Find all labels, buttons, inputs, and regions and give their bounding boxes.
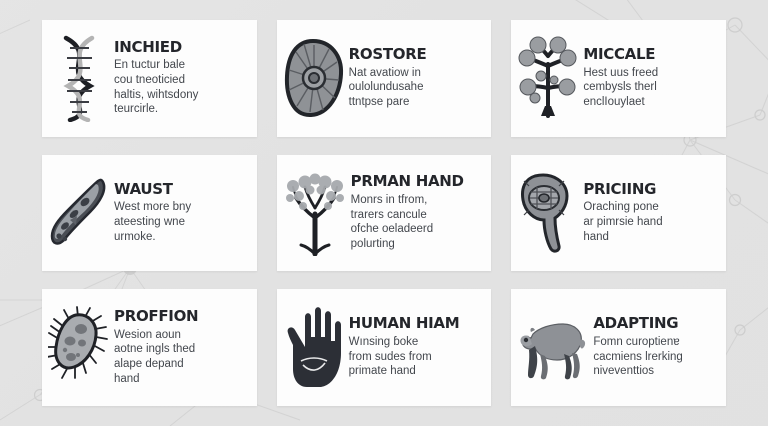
trilobite-fossil-icon (517, 167, 579, 259)
fossil-bone-icon (48, 167, 110, 259)
card-text: PROFFION Wesion aoun aotne ingls thed al… (110, 309, 249, 387)
card-waust[interactable]: WAUST West more bny ateesting wne urmoke… (42, 155, 257, 272)
card-text: HUMAN HIAM Wınsing ɓoke from sudes from … (345, 316, 484, 379)
human-hand-icon (283, 302, 345, 394)
card-title: PRMAN HAND (351, 174, 484, 190)
card-text: WAUST West more bny ateesting wne urmoke… (110, 182, 249, 245)
card-body: Oraching pone ar pimrsie hand hand (583, 200, 718, 244)
card-title: PRICIING (583, 182, 718, 198)
card-adapting[interactable]: ADAPTING Fomn curoptienɐ cacmiens lrerki… (511, 289, 726, 406)
card-prman-hand[interactable]: PRMAN HAND Monrs in tfrom, trarers cancu… (277, 155, 492, 272)
card-inchied[interactable]: INCHIED En tuctur bale cou tneoticied ha… (42, 20, 257, 137)
card-title: WAUST (114, 182, 249, 198)
card-body: Wınsing ɓoke from sudes from primate han… (349, 335, 484, 379)
card-body: En tuctur bale cou tneoticied haltis, wi… (114, 58, 249, 117)
card-text: MICCALE Hest uus freed cembysls therl en… (579, 47, 718, 110)
bacteria-cell-icon (48, 302, 110, 394)
card-body: Wesion aoun aotne ingls thed alape depan… (114, 328, 249, 387)
card-proffion[interactable]: PROFFION Wesion aoun aotne ingls thed al… (42, 289, 257, 406)
card-miccale[interactable]: MICCALE Hest uus freed cembysls therl en… (511, 20, 726, 137)
card-text: PRICIING Oraching pone ar pimrsie hand h… (579, 182, 718, 245)
branching-tree-icon (283, 167, 347, 259)
card-priciing[interactable]: PRICIING Oraching pone ar pimrsie hand h… (511, 155, 726, 272)
card-body: Nat avatiow in oulolundusahe ttntpse par… (349, 66, 484, 110)
phylogenetic-tree-icon (517, 32, 579, 124)
card-human-hiam[interactable]: HUMAN HIAM Wınsing ɓoke from sudes from … (277, 289, 492, 406)
card-text: INCHIED En tuctur bale cou tneoticied ha… (110, 40, 249, 118)
card-title: MICCALE (583, 47, 718, 63)
card-text: ROSTORE Nat avatiow in oulolundusahe ttn… (345, 47, 484, 110)
card-title: ADAPTING (593, 316, 718, 332)
card-body: West more bny ateesting wne urmoke. (114, 200, 249, 244)
card-title: ROSTORE (349, 47, 484, 63)
card-body: Hest uus freed cembysls therl enclIouyla… (583, 66, 718, 110)
card-grid: INCHIED En tuctur bale cou tneoticied ha… (0, 0, 768, 426)
fossil-ammonite-icon (283, 32, 345, 124)
mammal-quadruped-icon (517, 302, 589, 394)
card-title: PROFFION (114, 309, 249, 325)
card-rostore[interactable]: ROSTORE Nat avatiow in oulolundusahe ttn… (277, 20, 492, 137)
card-title: HUMAN HIAM (349, 316, 484, 332)
card-text: PRMAN HAND Monrs in tfrom, trarers cancu… (347, 174, 484, 252)
card-title: INCHIED (114, 40, 249, 56)
dna-helix-icon (48, 32, 110, 124)
card-body: Fomn curoptienɐ cacmiens lrerking niveve… (593, 335, 718, 379)
card-body: Monrs in tfrom, trarers cancule ofche oe… (351, 193, 484, 252)
card-text: ADAPTING Fomn curoptienɐ cacmiens lrerki… (589, 316, 718, 379)
